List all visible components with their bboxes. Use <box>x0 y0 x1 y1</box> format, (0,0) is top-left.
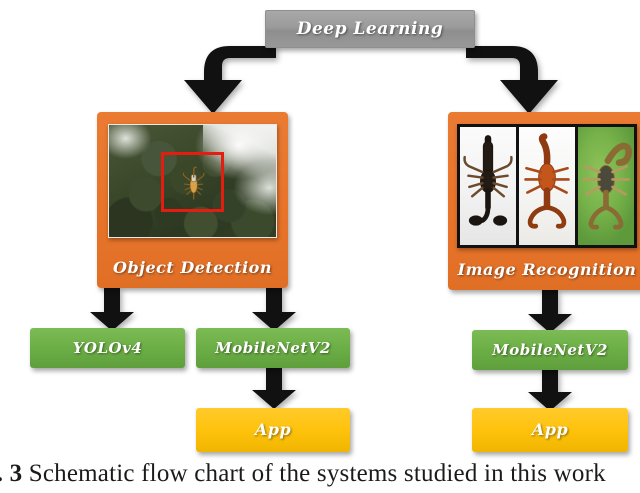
arrow-root-to-image-recognition <box>466 6 586 116</box>
arrow-mobilenetv2-left-to-app <box>250 368 298 410</box>
arrow-mobilenetv2-right-to-app <box>526 370 574 412</box>
arrow-object-detection-to-yolov4 <box>88 288 136 332</box>
scorpion-habitat-image <box>109 125 276 237</box>
scorpion-photo-on-leaf <box>575 127 634 245</box>
node-label-app-left: App <box>255 422 291 438</box>
figure-caption: g. 3 Schematic flow chart of the systems… <box>0 462 640 493</box>
node-image-recognition[interactable]: Image Recognition <box>448 112 640 290</box>
arrow-object-detection-to-mobilenetv2-left <box>250 288 298 332</box>
figure-number: g. 3 <box>0 462 22 487</box>
arrow-image-recognition-to-mobilenetv2-right <box>526 290 574 334</box>
node-deep-learning[interactable]: Deep Learning <box>265 10 475 48</box>
detection-bounding-box <box>161 152 224 212</box>
node-mobilenetv2-left[interactable]: MobileNetV2 <box>196 328 350 368</box>
scorpion-photo-black <box>460 127 516 245</box>
node-label-object-detection: Object Detection <box>113 260 272 276</box>
scorpion-icon <box>460 127 516 245</box>
scorpion-photo-orange <box>516 127 575 245</box>
node-app-left[interactable]: App <box>196 408 350 452</box>
node-label-image-recognition: Image Recognition <box>458 262 637 278</box>
scorpion-icon <box>578 127 634 245</box>
figure-canvas: Deep Learning <box>0 0 640 493</box>
scorpion-icon <box>519 127 575 245</box>
image-recognition-photos <box>457 124 637 248</box>
arrow-root-to-object-detection <box>156 6 276 116</box>
node-yolov4[interactable]: YOLOv4 <box>30 328 185 368</box>
object-detection-photo <box>108 124 277 238</box>
node-mobilenetv2-right[interactable]: MobileNetV2 <box>472 330 628 370</box>
node-label-deep-learning: Deep Learning <box>297 21 443 38</box>
node-label-mobilenetv2-right: MobileNetV2 <box>492 343 608 358</box>
node-label-mobilenetv2-left: MobileNetV2 <box>215 341 331 356</box>
node-label-yolov4: YOLOv4 <box>73 341 143 356</box>
node-label-app-right: App <box>532 422 568 438</box>
node-object-detection[interactable]: Object Detection <box>97 112 288 288</box>
figure-caption-text: Schematic flow chart of the systems stud… <box>29 462 606 487</box>
node-app-right[interactable]: App <box>472 408 628 452</box>
